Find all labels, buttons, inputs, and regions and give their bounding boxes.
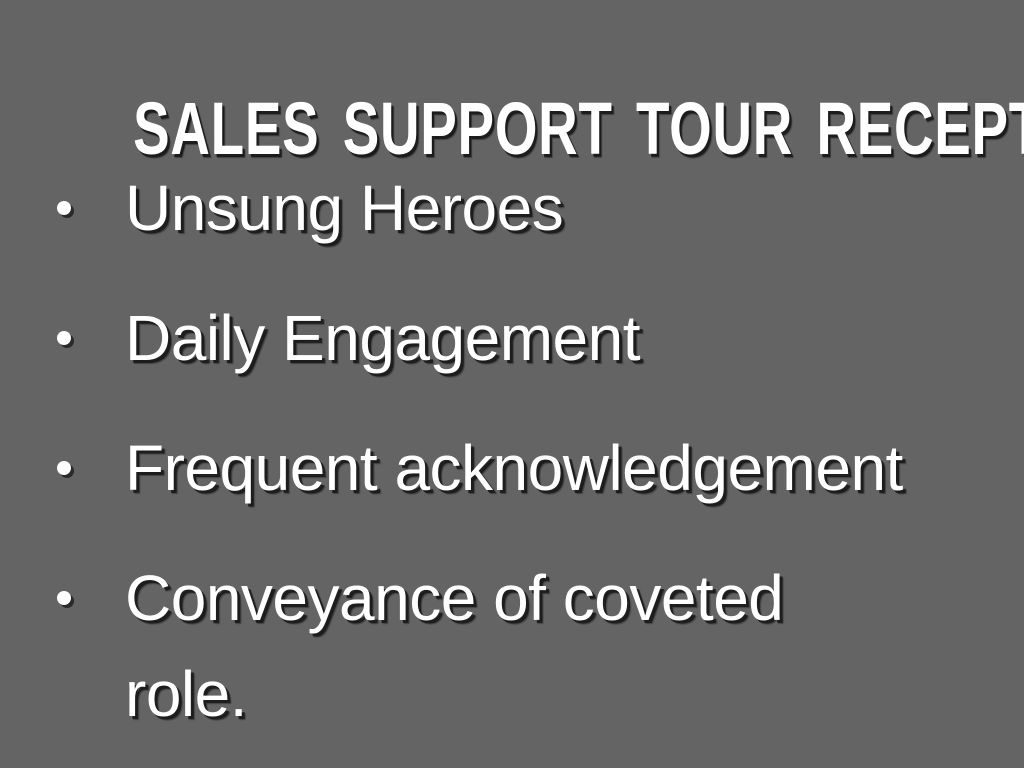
- list-item: Daily Engagement: [50, 290, 970, 386]
- bullet-dot-icon: [57, 331, 71, 345]
- bullet-text: Unsung Heroes: [125, 160, 563, 256]
- bullet-dot-icon: [57, 591, 71, 605]
- page-title: SALES SUPPORT TOUR RECEPTION: [133, 90, 891, 168]
- list-item: Frequent acknowledgement: [50, 420, 970, 516]
- bullet-dot-icon: [57, 461, 71, 475]
- bullet-text: Daily Engagement: [125, 290, 640, 386]
- bullet-text: Conveyance of coveted role.: [125, 550, 795, 742]
- slide-canvas: SALES SUPPORT TOUR RECEPTION Unsung Hero…: [0, 0, 1024, 768]
- bullet-text: Frequent acknowledgement: [125, 420, 903, 516]
- bullet-dot-icon: [57, 201, 71, 215]
- bullet-list: Unsung Heroes Daily Engagement Frequent …: [50, 160, 970, 742]
- list-item: Conveyance of coveted role.: [50, 550, 970, 742]
- list-item: Unsung Heroes: [50, 160, 970, 256]
